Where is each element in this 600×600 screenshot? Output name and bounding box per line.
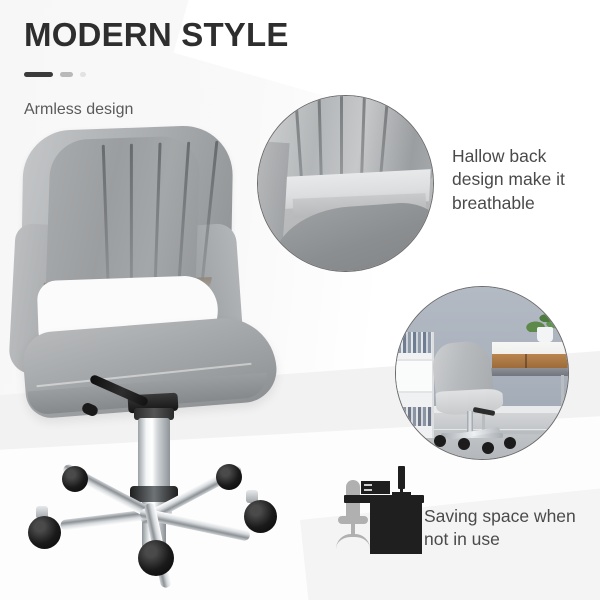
icon-monitor: [398, 466, 405, 489]
icon-chair-base: [336, 534, 370, 549]
divider-segment-long: [24, 72, 53, 77]
shelf-books-top: [396, 332, 432, 353]
divider-segment-medium: [60, 72, 73, 77]
caster-wheel: [244, 500, 277, 533]
caster-wheel: [482, 442, 494, 454]
caster-wheel: [62, 466, 88, 492]
caster-wheel: [434, 435, 446, 447]
room-scene-photo: [396, 287, 568, 459]
caption-space-saving: Saving space when not in use: [424, 505, 594, 552]
page-title: MODERN STYLE: [24, 18, 289, 51]
desk-wood-drawers: [492, 354, 568, 368]
tufting-channel: [176, 142, 190, 296]
plant-pot: [537, 327, 552, 342]
caster-wheel: [216, 464, 242, 490]
tufting-channel: [130, 144, 133, 298]
icon-desk-equipment: [361, 481, 390, 494]
caster-wheel: [138, 540, 174, 576]
feature-image-space-saving: [395, 286, 569, 460]
tufting-channel: [153, 143, 161, 297]
shelf-drawer: [396, 359, 432, 393]
page-subtitle: Armless design: [24, 101, 133, 119]
hollow-back-photo: [258, 96, 433, 271]
caption-hollow-back: Hallow back design make it breathable: [452, 145, 600, 215]
shelf-books-bottom: [396, 407, 432, 425]
product-infographic: MODERN STYLE Armless design: [0, 0, 600, 600]
gas-lift-cylinder: [138, 418, 170, 496]
title-divider: [24, 72, 86, 77]
divider-segment-small: [80, 72, 86, 77]
feature-image-hollow-back: [257, 95, 434, 272]
caster-wheel: [504, 437, 516, 449]
room-bookshelf: [396, 332, 434, 439]
tufting-channel: [102, 145, 110, 285]
desk-leg: [561, 375, 564, 433]
desk-with-tucked-chair-icon: [330, 462, 426, 558]
caster-wheel: [28, 516, 61, 549]
icon-desk-body: [370, 502, 422, 554]
